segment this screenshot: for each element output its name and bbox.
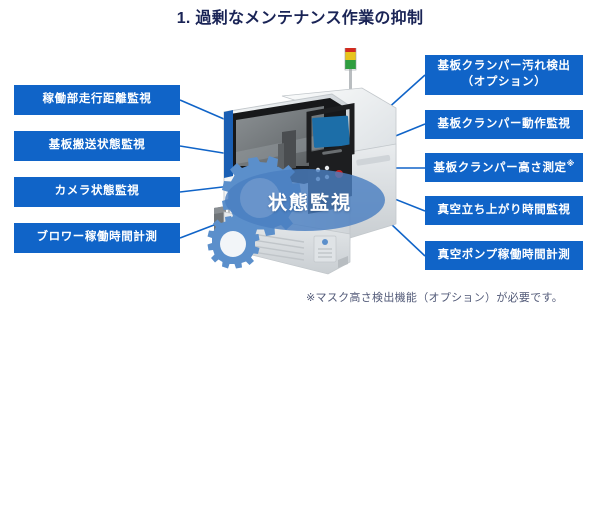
slide-canvas: 1. 過剰なメンテナンス作業の抑制 — [0, 0, 600, 508]
label-right-clamper-operation[interactable]: 基板クランパー動作監視 — [425, 110, 583, 139]
label-right-clamper-contamination-line1: 基板クランパー汚れ検出 — [437, 60, 570, 72]
label-right-clamper-contamination-line2: （オプション） — [462, 76, 547, 88]
tower-lamp-red — [345, 48, 356, 52]
label-left-blower-hours-text: ブロワー稼働時間計測 — [37, 230, 158, 246]
base-indicator-led — [322, 239, 328, 245]
machine-squeegee-head — [282, 130, 296, 170]
label-right-vacuum-pump-hours[interactable]: 真空ポンプ稼働時間計測 — [425, 241, 583, 270]
machine-accent-stripe — [224, 110, 233, 178]
label-left-camera-status[interactable]: カメラ状態監視 — [14, 177, 180, 207]
label-left-blower-hours[interactable]: ブロワー稼働時間計測 — [14, 223, 180, 253]
label-right-clamper-contamination[interactable]: 基板クランパー汚れ検出 （オプション） — [425, 55, 583, 95]
label-left-board-transfer[interactable]: 基板搬送状態監視 — [14, 131, 180, 161]
screen-printer-machine — [200, 48, 420, 290]
label-right-vacuum-rise-time[interactable]: 真空立ち上がり時間監視 — [425, 196, 583, 225]
footnote-text: ※マスク高さ検出機能（オプション）が必要です。 — [306, 289, 563, 305]
label-right-vacuum-rise-time-text: 真空立ち上がり時間監視 — [437, 203, 570, 219]
control-panel-screen — [312, 115, 350, 147]
label-left-travel-distance-text: 稼働部走行距離監視 — [43, 92, 152, 108]
label-left-travel-distance[interactable]: 稼働部走行距離監視 — [14, 85, 180, 115]
label-right-clamper-height[interactable]: 基板クランパー高さ測定※ — [425, 153, 583, 182]
panel-button-3 — [316, 177, 320, 181]
label-left-board-transfer-text: 基板搬送状態監視 — [49, 138, 146, 154]
footnote-marker-icon: ※ — [567, 159, 575, 168]
label-right-vacuum-pump-hours-text: 真空ポンプ稼働時間計測 — [438, 248, 571, 264]
panel-button-2 — [325, 166, 329, 170]
panel-button-4 — [325, 175, 329, 179]
label-right-clamper-operation-text: 基板クランパー動作監視 — [437, 117, 570, 133]
label-right-clamper-height-text: 基板クランパー高さ測定※ — [434, 159, 575, 176]
tower-lamp-yellow — [345, 51, 356, 60]
machine-squeegee-arm — [278, 143, 284, 172]
emergency-stop-button — [335, 170, 343, 178]
label-right-clamper-contamination-text: 基板クランパー汚れ検出 （オプション） — [437, 59, 570, 90]
label-right-clamper-height-main: 基板クランパー高さ測定 — [434, 162, 567, 174]
tower-lamp-green — [345, 60, 356, 69]
panel-button-1 — [316, 168, 320, 172]
label-left-camera-status-text: カメラ状態監視 — [55, 184, 140, 200]
